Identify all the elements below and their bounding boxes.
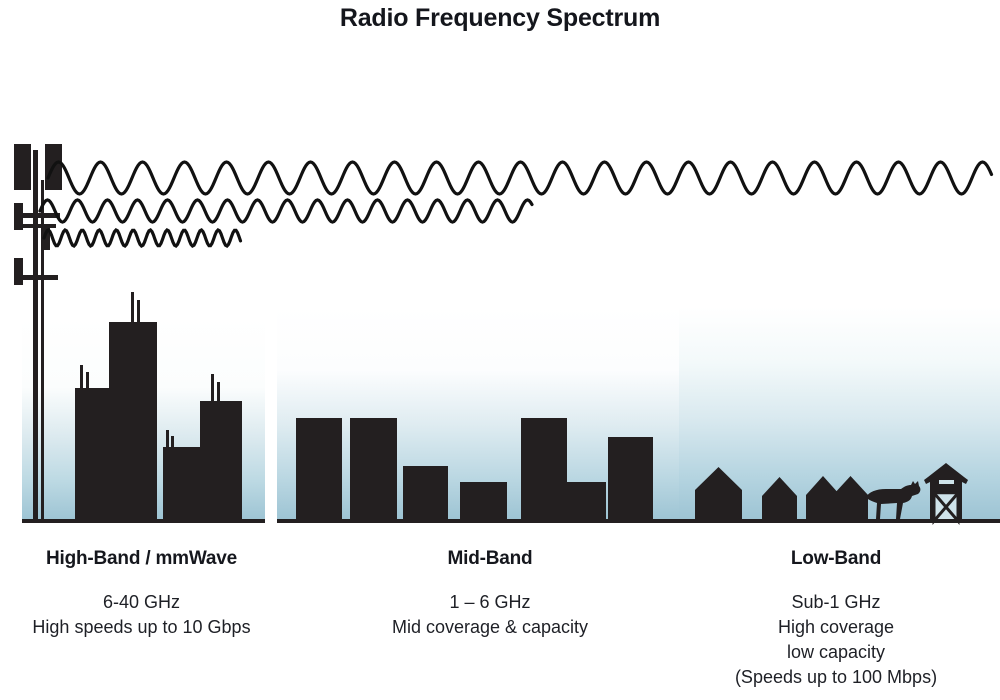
antenna-panel-low [14,258,23,285]
barn-loft-window [939,480,954,484]
ground-line-high-band [22,519,265,523]
high-band-wave [44,230,241,246]
band-line: High speeds up to 10 Gbps [0,615,283,640]
skyscraper-1-spire-a [80,365,83,389]
band-title-low-band: Low-Band [672,546,1000,572]
midband-building-2 [350,418,397,522]
band-line: Mid coverage & capacity [330,615,650,640]
midband-building-4 [460,482,507,522]
band-line: 6-40 GHz [0,590,283,615]
antenna-crossbar-mid-2 [22,224,56,228]
mid-band-wave [40,200,532,222]
skyscraper-4-spire-a [211,374,214,402]
band-line: High coverage [672,615,1000,640]
midband-building-6 [567,482,606,522]
band-line: Sub-1 GHz [672,590,1000,615]
skyscraper-1-spire-b [86,372,89,389]
skyscraper-2-spire-a [131,292,134,323]
band-line: low capacity [672,640,1000,665]
skyscraper-3 [163,447,205,522]
skyscraper-4-spire-b [217,382,220,402]
band-caption-low-band: Low-Band Sub-1 GHz High coverage low cap… [672,546,1000,690]
midband-building-5 [521,418,567,522]
midband-building-7 [608,437,653,522]
radio-waves [40,162,992,246]
band-line: (Speeds up to 100 Mbps) [672,665,1000,690]
band-lines-high-band: 6-40 GHz High speeds up to 10 Gbps [0,590,283,640]
skyscraper-2-spire-b [137,300,140,323]
ground-line-mid-band [277,519,682,523]
tower-base [26,519,48,523]
antenna-panel-high-left [14,144,31,190]
skyscraper-2 [109,322,157,522]
midband-building-1 [296,418,342,522]
band-caption-mid-band: Mid-Band 1 – 6 GHz Mid coverage & capaci… [330,546,650,640]
low-band-wave [48,162,992,194]
band-title-mid-band: Mid-Band [330,546,650,572]
antenna-panel-mid [14,203,23,230]
antenna-crossbar-mid [18,213,60,218]
midband-building-3 [403,466,448,522]
skyscraper-3-spire-a [166,430,169,448]
skyscraper-3-spire-b [171,436,174,448]
band-lines-mid-band: 1 – 6 GHz Mid coverage & capacity [330,590,650,640]
band-line: 1 – 6 GHz [330,590,650,615]
band-lines-low-band: Sub-1 GHz High coverage low capacity (Sp… [672,590,1000,689]
ground-line-low-band [679,519,1000,523]
band-caption-high-band: High-Band / mmWave 6-40 GHz High speeds … [0,546,283,640]
band-title-high-band: High-Band / mmWave [0,546,283,572]
skyscraper-4 [200,401,242,522]
tower-mast-main [33,150,38,522]
